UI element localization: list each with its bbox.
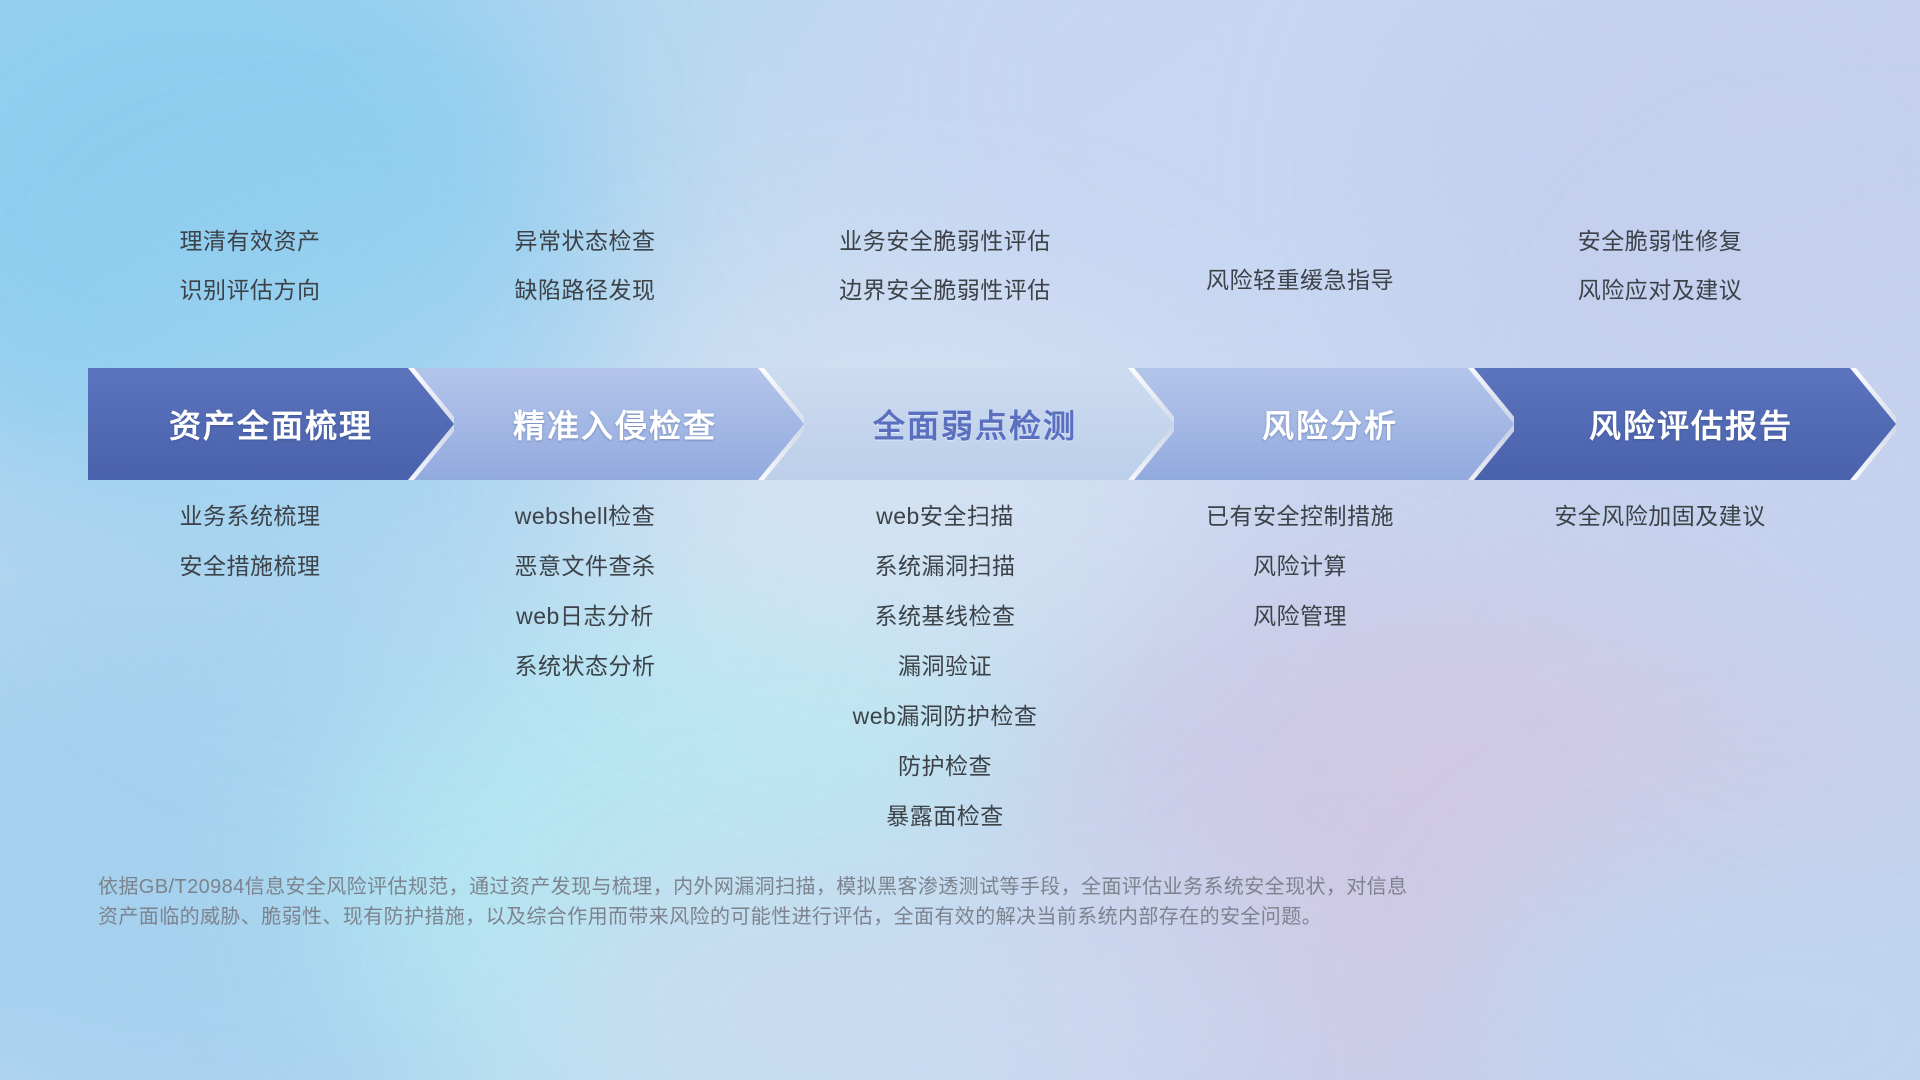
stage-tasks-asset-inventory: 业务系统梳理安全措施梳理 (90, 505, 410, 605)
stage-task-item[interactable]: 系统基线检查 (875, 605, 1016, 628)
stage-output-item: 识别评估方向 (180, 279, 321, 302)
stage-chevron-intrusion-check[interactable]: 精准入侵检查 (408, 368, 804, 480)
stage-chevron-label: 资产全面梳理 (169, 401, 373, 447)
stage-task-item[interactable]: 风险管理 (1253, 605, 1347, 628)
stage-chevron-label: 精准入侵检查 (513, 401, 717, 447)
stage-outputs-row: 理清有效资产识别评估方向异常状态检查缺陷路径发现业务安全脆弱性评估边界安全脆弱性… (90, 230, 1850, 360)
stage-task-item[interactable]: 业务系统梳理 (180, 505, 321, 528)
stage-tasks-row: 业务系统梳理安全措施梳理webshell检查恶意文件查杀web日志分析系统状态分… (90, 505, 1850, 845)
stage-chevron-label: 风险评估报告 (1589, 401, 1793, 447)
stage-tasks-weakness-detection: web安全扫描系统漏洞扫描系统基线检查漏洞验证web漏洞防护检查防护检查暴露面检… (760, 505, 1130, 855)
footer-line-2: 资产面临的威胁、脆弱性、现有防护措施，以及综合作用而带来风险的可能性进行评估，全… (98, 902, 1658, 932)
stage-outputs-asset-inventory: 理清有效资产识别评估方向 (90, 230, 410, 328)
stage-task-item[interactable]: 暴露面检查 (886, 805, 1004, 828)
stage-task-item[interactable]: 风险计算 (1253, 555, 1347, 578)
stage-task-item[interactable]: 漏洞验证 (898, 655, 992, 678)
stage-chevron-risk-report[interactable]: 风险评估报告 (1468, 368, 1896, 480)
stage-output-item: 理清有效资产 (180, 230, 321, 253)
stage-task-item[interactable]: 安全措施梳理 (180, 555, 321, 578)
stage-output-item: 安全脆弱性修复 (1578, 230, 1743, 253)
stage-chevron-asset-inventory[interactable]: 资产全面梳理 (88, 368, 454, 480)
stage-task-item[interactable]: 已有安全控制措施 (1206, 505, 1394, 528)
stage-task-item[interactable]: web漏洞防护检查 (853, 705, 1038, 728)
stage-outputs-intrusion-check: 异常状态检查缺陷路径发现 (410, 230, 760, 328)
stage-task-item[interactable]: webshell检查 (515, 505, 656, 528)
footer-line-1: 依据GB/T20984信息安全风险评估规范，通过资产发现与梳理，内外网漏洞扫描，… (98, 872, 1658, 902)
stage-chevron-banner: 资产全面梳理 精准入侵检查 (88, 368, 1850, 480)
stage-chevron-weakness-detection[interactable]: 全面弱点检测 (758, 368, 1174, 480)
stage-output-item: 边界安全脆弱性评估 (839, 279, 1051, 302)
stage-task-item[interactable]: 恶意文件查杀 (515, 555, 656, 578)
stage-outputs-risk-analysis: 风险轻重缓急指导 (1130, 230, 1470, 318)
stage-chevron-label: 风险分析 (1262, 401, 1398, 447)
stage-tasks-intrusion-check: webshell检查恶意文件查杀web日志分析系统状态分析 (410, 505, 760, 705)
process-diagram: 理清有效资产识别评估方向异常状态检查缺陷路径发现业务安全脆弱性评估边界安全脆弱性… (0, 0, 1920, 1080)
stage-task-item[interactable]: 防护检查 (898, 755, 992, 778)
stage-outputs-weakness-detection: 业务安全脆弱性评估边界安全脆弱性评估 (760, 230, 1130, 328)
footer-description: 依据GB/T20984信息安全风险评估规范，通过资产发现与梳理，内外网漏洞扫描，… (98, 872, 1658, 933)
stage-task-item[interactable]: 安全风险加固及建议 (1554, 505, 1766, 528)
stage-tasks-risk-analysis: 已有安全控制措施风险计算风险管理 (1130, 505, 1470, 655)
stage-task-item[interactable]: 系统状态分析 (515, 655, 656, 678)
stage-chevron-label: 全面弱点检测 (873, 401, 1077, 447)
stage-output-item: 异常状态检查 (515, 230, 656, 253)
stage-output-item: 风险应对及建议 (1578, 279, 1743, 302)
stage-task-item[interactable]: 系统漏洞扫描 (875, 555, 1016, 578)
stage-outputs-risk-report: 安全脆弱性修复风险应对及建议 (1470, 230, 1850, 328)
stage-output-item: 业务安全脆弱性评估 (839, 230, 1051, 253)
stage-output-item: 缺陷路径发现 (515, 279, 656, 302)
stage-task-item[interactable]: web日志分析 (516, 605, 654, 628)
stage-chevron-risk-analysis[interactable]: 风险分析 (1128, 368, 1514, 480)
stage-task-item[interactable]: web安全扫描 (876, 505, 1014, 528)
stage-tasks-risk-report: 安全风险加固及建议 (1470, 505, 1850, 555)
stage-output-item: 风险轻重缓急指导 (1206, 269, 1394, 292)
